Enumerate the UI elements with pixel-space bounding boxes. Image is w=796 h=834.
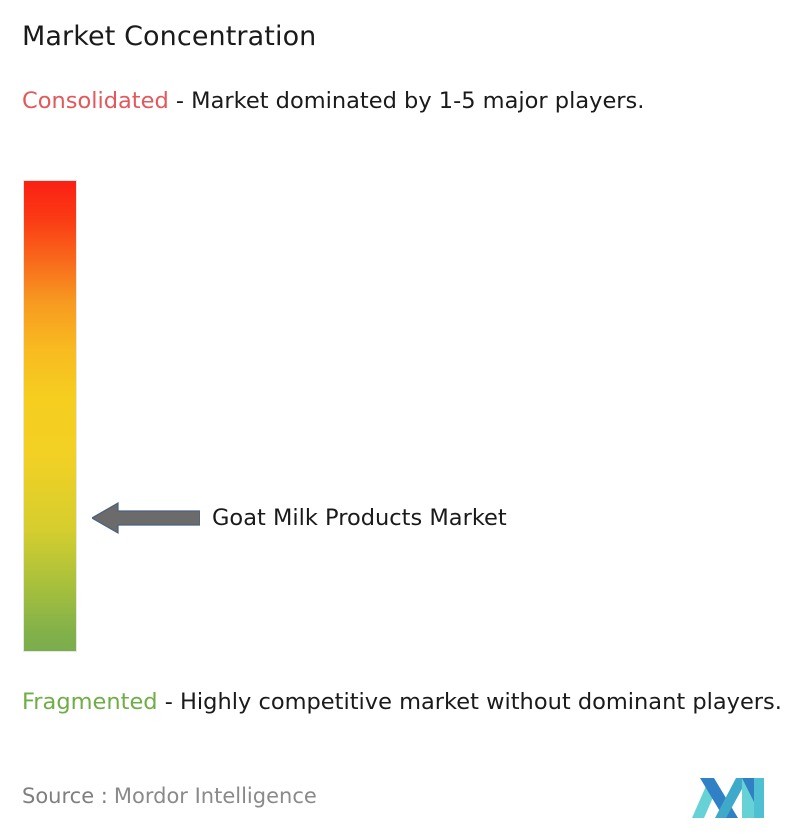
source-line: Source :Mordor Intelligence xyxy=(22,782,317,810)
market-pointer-label: Goat Milk Products Market xyxy=(212,503,507,533)
source-value: Mordor Intelligence xyxy=(114,784,317,808)
left-arrow-icon xyxy=(92,501,200,535)
concentration-gradient-bar xyxy=(24,181,76,651)
consolidated-keyword: Consolidated xyxy=(22,88,169,114)
fragmented-keyword: Fragmented xyxy=(22,689,158,715)
consolidated-description: - Market dominated by 1-5 major players. xyxy=(169,88,645,114)
fragmented-description: - Highly competitive market without domi… xyxy=(158,689,782,715)
mordor-intelligence-logo xyxy=(692,772,764,818)
consolidated-caption: Consolidated - Market dominated by 1-5 m… xyxy=(22,86,772,117)
page-title: Market Concentration xyxy=(22,20,316,54)
fragmented-caption: Fragmented - Highly competitive market w… xyxy=(22,687,788,718)
mordor-intelligence-logo-mark xyxy=(692,772,764,818)
market-pointer: Goat Milk Products Market xyxy=(92,500,507,536)
source-label: Source : xyxy=(22,784,108,808)
